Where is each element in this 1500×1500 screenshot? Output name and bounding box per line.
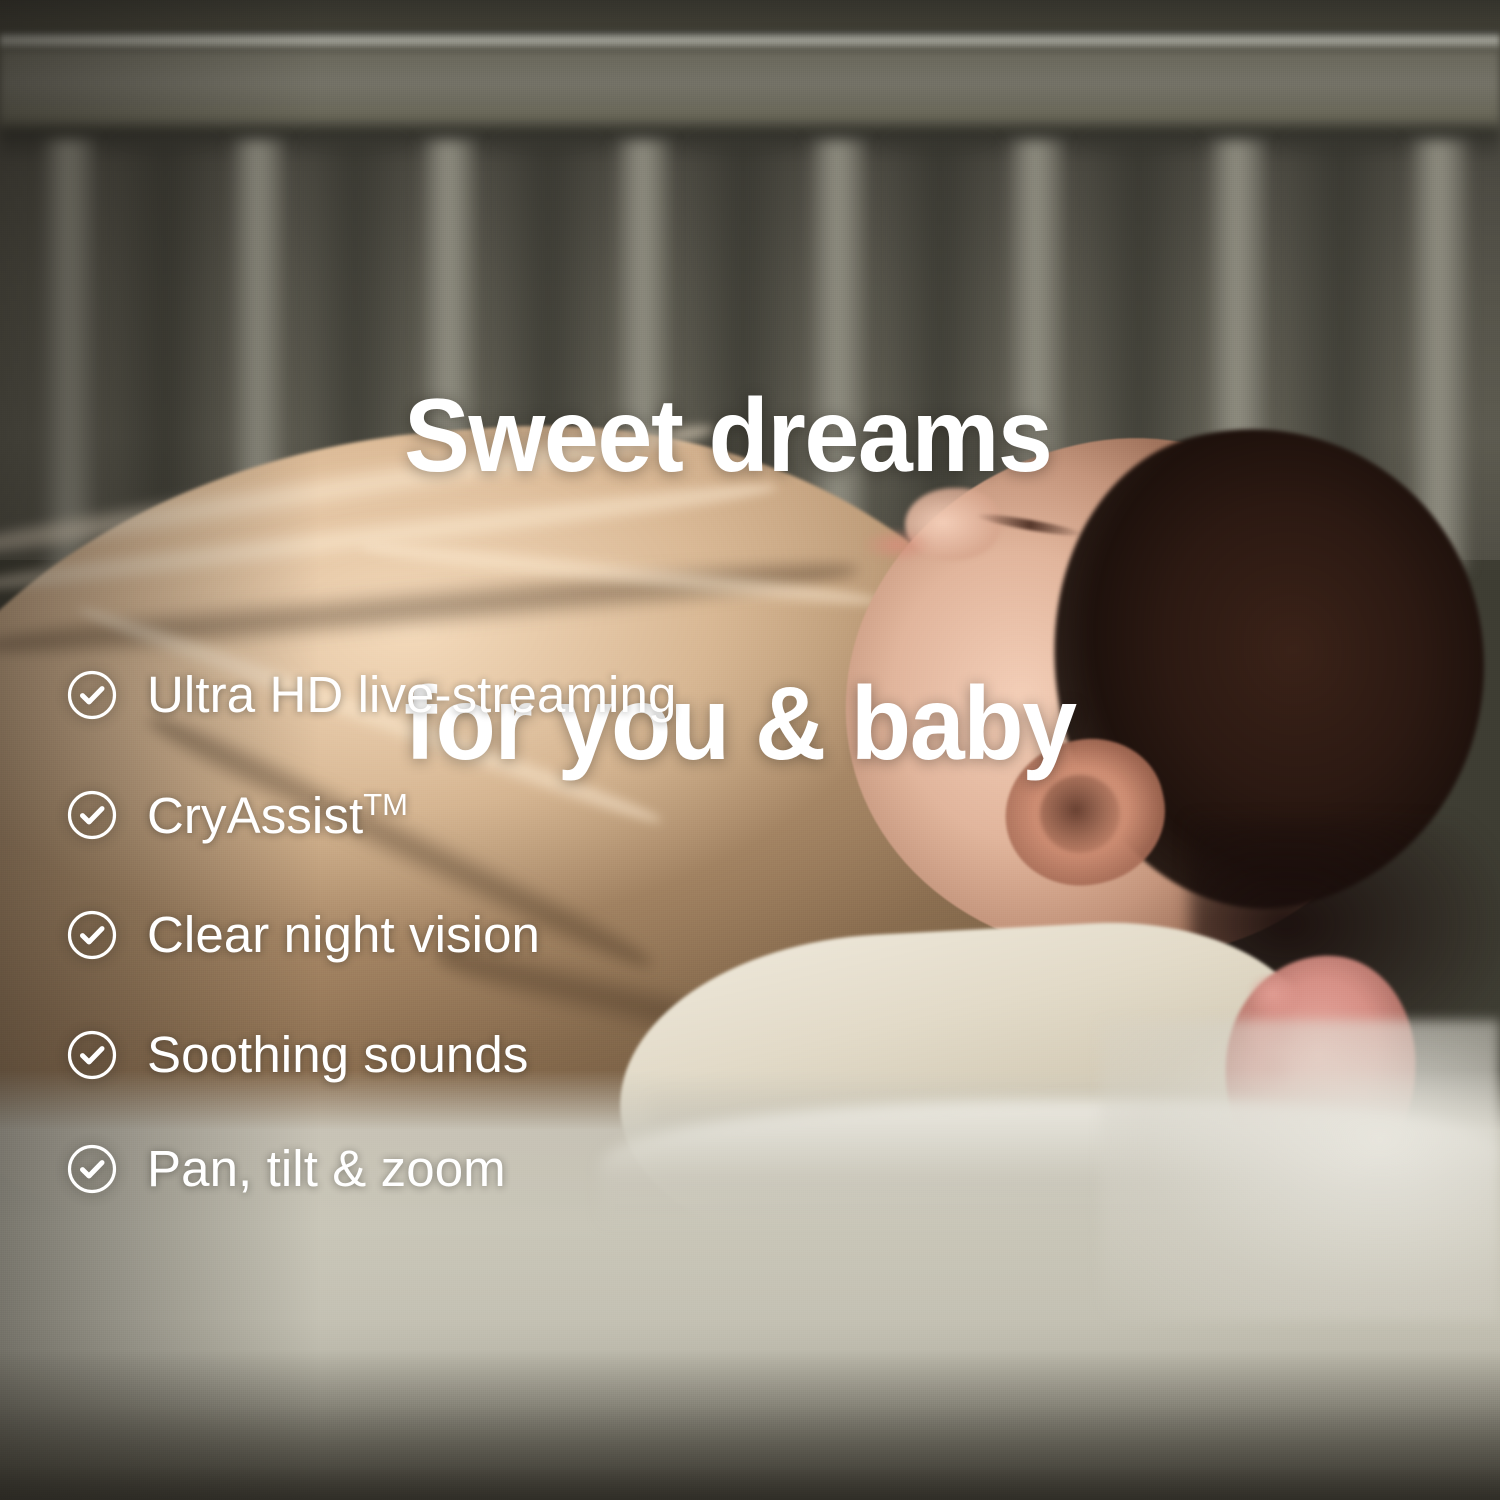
check-circle-icon [66, 1029, 118, 1081]
check-circle-icon [66, 789, 118, 841]
list-item: Pan, tilt & zoom [66, 1137, 676, 1201]
trademark-mark: TM [363, 787, 408, 822]
headline-line-1: Sweet dreams [404, 388, 1076, 484]
feature-label: CryAssistTM [147, 789, 408, 842]
check-circle-icon [66, 1143, 118, 1195]
list-item: Soothing sounds [66, 1023, 676, 1087]
text-overlay: Sweet dreams for you & baby Ultra HD liv… [0, 0, 1500, 1500]
check-circle-icon [66, 669, 118, 721]
list-item: Clear night vision [66, 903, 676, 967]
feature-list: Ultra HD live-streaming CryAssistTM [66, 663, 676, 1201]
feature-label: Pan, tilt & zoom [147, 1143, 506, 1195]
list-item: CryAssistTM [66, 783, 676, 847]
marketing-image: Sweet dreams for you & baby Ultra HD liv… [0, 0, 1500, 1500]
list-item: Ultra HD live-streaming [66, 663, 676, 727]
feature-label: Soothing sounds [147, 1029, 528, 1081]
feature-label: Ultra HD live-streaming [147, 669, 676, 721]
feature-label: Clear night vision [147, 909, 540, 961]
check-circle-icon [66, 909, 118, 961]
feature-label-text: CryAssist [147, 787, 363, 844]
